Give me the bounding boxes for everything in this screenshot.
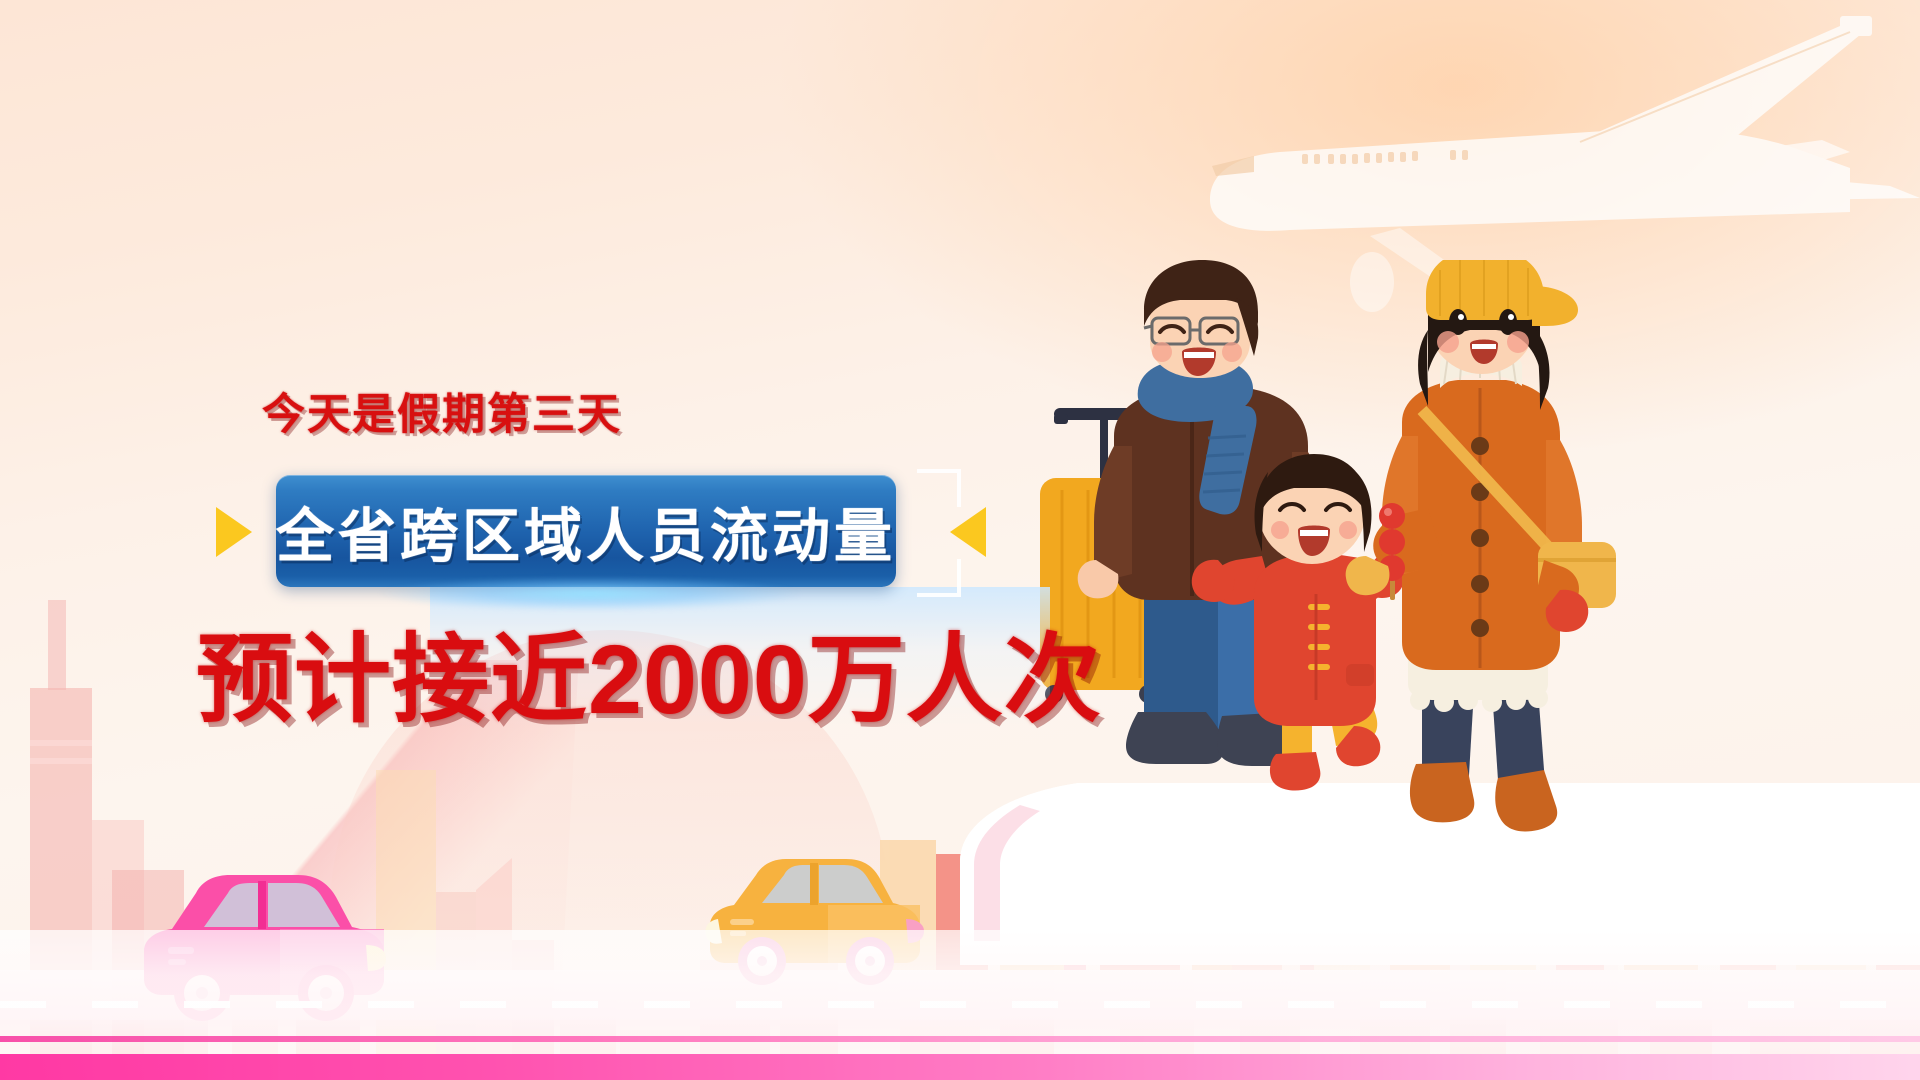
banner-group: 全省跨区域人员流动量: [180, 455, 1020, 595]
travelling-family-illustration: [1040, 260, 1660, 865]
news-graphic-canvas: 今天是假期第三天 全省跨区域人员流动量 预计接近2000万人次: [0, 0, 1920, 1080]
road-accent-line-lower: [0, 1054, 1920, 1080]
kicker-text: 今天是假期第三天: [262, 380, 622, 442]
mother-figure: [1346, 260, 1616, 832]
road-accent-line-upper: [0, 1036, 1920, 1042]
triangle-left-icon: [950, 507, 986, 557]
corner-bracket-top-right-icon: [917, 469, 961, 507]
banner-title-plate: 全省跨区域人员流动量: [276, 475, 896, 587]
road-center-line: [0, 1001, 1920, 1008]
banner-title-text: 全省跨区域人员流动量: [276, 489, 896, 573]
corner-bracket-bottom-right-icon: [917, 559, 961, 597]
triangle-right-icon: [216, 507, 252, 557]
headline-text: 预计接近2000万人次: [196, 600, 1102, 741]
